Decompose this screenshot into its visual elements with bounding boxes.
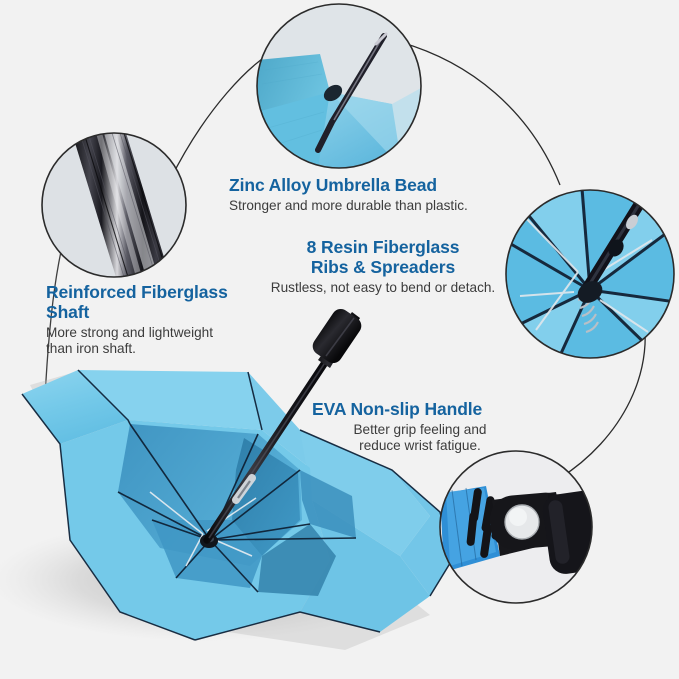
callout-text-shaft: Reinforced Fiberglass Shaft More strong … <box>46 283 296 358</box>
callout-photo-handle <box>440 451 613 603</box>
callout-photo-bead <box>257 4 421 168</box>
feature-title-shaft: Reinforced Fiberglass Shaft <box>46 283 296 323</box>
feature-title-ribs: 8 Resin Fiberglass Ribs & Spreaders <box>248 238 518 278</box>
feature-subtitle-shaft: More strong and lightweight than iron sh… <box>46 325 296 358</box>
callout-photo-shaft <box>42 133 186 277</box>
infographic-canvas: Zinc Alloy Umbrella Bead Stronger and mo… <box>0 0 679 679</box>
feature-title-handle: EVA Non-slip Handle <box>300 400 540 420</box>
callout-photo-ribs <box>504 188 676 360</box>
feature-subtitle-bead: Stronger and more durable than plastic. <box>229 198 529 214</box>
callout-text-handle: EVA Non-slip Handle Better grip feeling … <box>300 400 540 455</box>
callout-text-bead: Zinc Alloy Umbrella Bead Stronger and mo… <box>229 176 529 214</box>
feature-title-bead: Zinc Alloy Umbrella Bead <box>229 176 529 196</box>
feature-subtitle-handle: Better grip feeling and reduce wrist fat… <box>300 422 540 455</box>
